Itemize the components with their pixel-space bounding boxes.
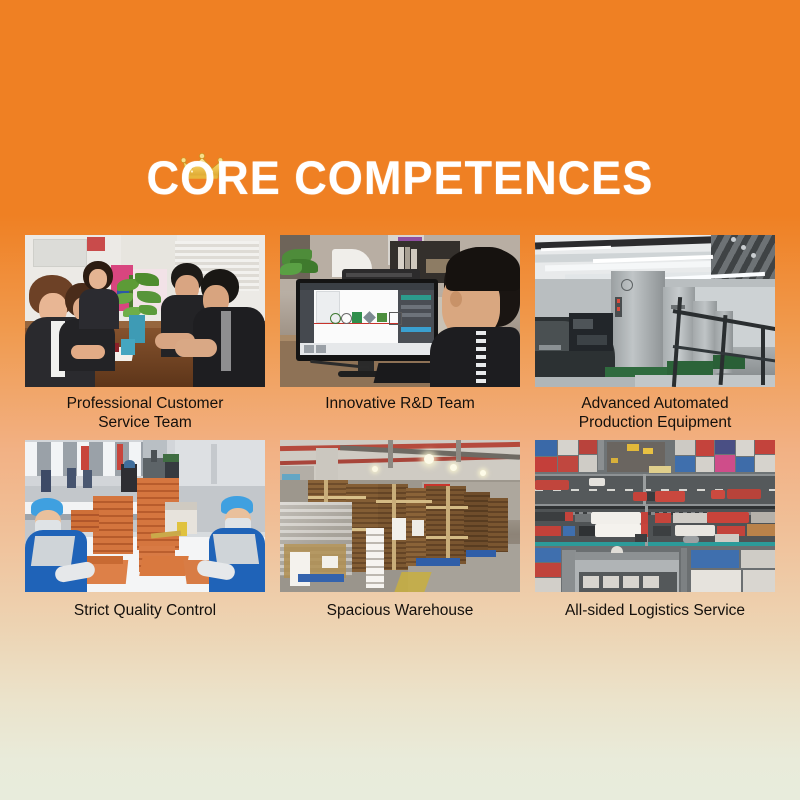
caption-advanced-automated-production-equipment: Advanced Automated Production Equipment (535, 394, 775, 432)
printing-press-photo (535, 235, 775, 387)
quality-control-photo (25, 440, 265, 592)
competences-grid: Professional Customer Service Team (25, 235, 775, 620)
grid-item-advanced-automated-production-equipment[interactable]: Advanced Automated Production Equipment (535, 235, 775, 432)
caption-strict-quality-control: Strict Quality Control (25, 601, 265, 620)
logistics-aerial-photo (535, 440, 775, 592)
meeting-photo (25, 235, 265, 387)
core-competences-banner: CORE COMPETENCES (0, 0, 800, 800)
page-title: CORE COMPETENCES (147, 150, 654, 206)
title-block: CORE COMPETENCES (0, 150, 800, 206)
grid-item-spacious-warehouse[interactable]: Spacious Warehouse (280, 440, 520, 620)
grid-item-professional-customer-service-team[interactable]: Professional Customer Service Team (25, 235, 265, 432)
caption-all-sided-logistics-service: All-sided Logistics Service (535, 601, 775, 620)
grid-item-all-sided-logistics-service[interactable]: All-sided Logistics Service (535, 440, 775, 620)
designer-photo (280, 235, 520, 387)
caption-innovative-rd-team: Innovative R&D Team (280, 394, 520, 413)
caption-spacious-warehouse: Spacious Warehouse (280, 601, 520, 620)
grid-item-strict-quality-control[interactable]: Strict Quality Control (25, 440, 265, 620)
warehouse-photo (280, 440, 520, 592)
caption-professional-customer-service-team: Professional Customer Service Team (25, 394, 265, 432)
grid-item-innovative-rd-team[interactable]: Innovative R&D Team (280, 235, 520, 432)
